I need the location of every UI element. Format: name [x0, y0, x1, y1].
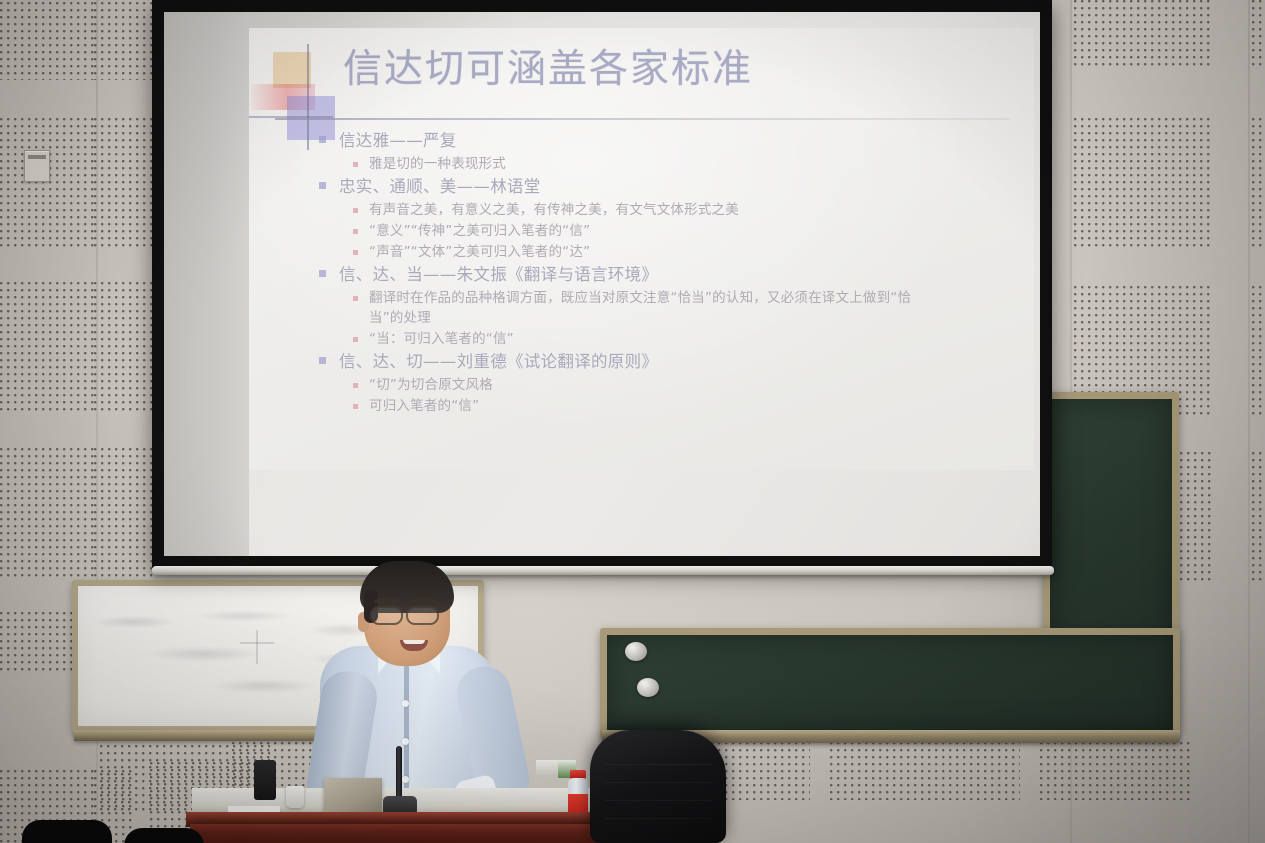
chair-ridge: [604, 782, 713, 783]
wall-perforation-block: [1252, 0, 1265, 66]
presenter-eyebrow: [410, 599, 436, 603]
bullet-text-highlight-wrap: 信、达、切——刘重德《试论翻译的原则》: [339, 350, 658, 374]
bullet-square-icon: [319, 136, 326, 143]
presentation-slide: 信达切可涵盖各家标准 信达雅——严复 雅是切的一种表现形式: [249, 28, 1034, 470]
bullet-text: 雅是切的一种表现形式: [369, 154, 506, 174]
lecture-podium: [190, 824, 612, 843]
presenter-shirt-button: [402, 700, 409, 707]
chair-ridge: [604, 764, 713, 765]
bullet-text: 翻译时在作品的品种格调方面，既应当对原文注意“恰当”的认知，又必须在译文上做到“…: [369, 288, 914, 328]
switch-slot: [28, 155, 45, 159]
bullet-text: 信达雅——严复: [339, 129, 457, 153]
wall-perforation-block: [94, 118, 152, 248]
bullet-text: “切”为切合原文风格: [369, 375, 493, 395]
wall-perforation-block: [1074, 0, 1212, 66]
bullet-square-icon: [319, 182, 326, 189]
slide-bullet-level1: 信达雅——严复: [319, 129, 1018, 153]
presenter-eyebrow: [374, 599, 400, 603]
foreground-head-silhouette: [124, 828, 204, 843]
bullet-square-icon: [353, 337, 358, 342]
board-magnet[interactable]: [625, 642, 647, 661]
board-magnet[interactable]: [637, 678, 659, 697]
bullet-text: 忠实、通顺、美——林语堂: [339, 175, 541, 199]
wall-switch-plate[interactable]: [24, 150, 50, 182]
dark-equipment[interactable]: [254, 760, 276, 800]
slide-bullet-level2: 雅是切的一种表现形式: [353, 154, 1018, 174]
presenter-glasses-lens: [370, 606, 403, 625]
bullet-square-icon: [319, 270, 326, 277]
wall-perforation-block: [94, 0, 152, 80]
slide-bullet-level2: “当：可归入笔者的“信”: [353, 329, 1018, 349]
slide-body: 信达雅——严复 雅是切的一种表现形式 忠实、通顺、美——林语堂: [319, 128, 1018, 416]
bullet-text: 信、达、当——朱文振《翻译与语言环境》: [339, 263, 658, 287]
bullet-text: “意义”“传神”之美可归入笔者的“信”: [369, 221, 590, 241]
wall-perforation-block: [1252, 286, 1265, 418]
decoration-tan-square: [273, 52, 311, 88]
slide-bullet-level2: “意义”“传神”之美可归入笔者的“信”: [353, 221, 1018, 241]
whiteboard-marker-trace: [240, 642, 274, 644]
presenter-shirt-button: [402, 776, 409, 783]
bullet-square-icon: [353, 162, 358, 167]
slide-bullet-level2: “声音”“文体”之美可归入笔者的“达”: [353, 242, 1018, 262]
slide-title: 信达切可涵盖各家标准: [343, 48, 1014, 93]
whiteboard-marker-trace: [256, 630, 258, 664]
slide-bullet-level1: 信、达、当——朱文振《翻译与语言环境》: [319, 263, 1018, 287]
wall-perforation-block: [0, 448, 96, 578]
wall-perforation-block: [0, 118, 96, 248]
bullet-text-gray: ——刘重德《试论翻译的原则》: [423, 352, 658, 371]
bullet-square-icon: [353, 296, 358, 301]
slide-bullet-level2: 翻译时在作品的品种格调方面，既应当对原文注意“恰当”的认知，又必须在译文上做到“…: [353, 288, 1018, 328]
cardboard-box[interactable]: [324, 778, 382, 812]
presenter-glasses-lens: [406, 606, 439, 625]
chair-ridge: [604, 818, 713, 819]
projection-screen-frame: 信达切可涵盖各家标准 信达雅——严复 雅是切的一种表现形式: [152, 0, 1052, 568]
wall-perforation-block: [830, 742, 1020, 800]
lecture-hall-scene: 信达切可涵盖各家标准 信达雅——严复 雅是切的一种表现形式: [0, 0, 1265, 843]
foreground-head-silhouette: [22, 820, 112, 843]
wall-perforation-block: [1180, 452, 1212, 582]
bullet-text-red: 信、达、切: [339, 352, 423, 371]
presenter-hair: [360, 561, 454, 613]
decoration-vertical-line: [307, 44, 309, 150]
chair-ridge: [604, 800, 713, 801]
slide-bullet-level2: “切”为切合原文风格: [353, 375, 1018, 395]
bullet-square-icon: [353, 383, 358, 388]
bullet-square-icon: [353, 404, 358, 409]
slide-bullet-level2: 有声音之美，有意义之美，有传神之美，有文气文体形式之美: [353, 200, 1018, 220]
slide-bullet-level1-highlighted: 信、达、切——刘重德《试论翻译的原则》: [319, 350, 1018, 374]
wall-panel-seam: [1248, 0, 1250, 843]
wall-perforation-block: [0, 282, 96, 414]
green-chalkboard-lower: [600, 628, 1180, 738]
wall-perforation-block: [1252, 118, 1265, 250]
bullet-square-icon: [353, 208, 358, 213]
slide-title-rule: [275, 118, 1010, 120]
screen-unlit-margin: [164, 12, 249, 556]
bullet-square-icon: [353, 229, 358, 234]
wall-perforation-block: [94, 282, 152, 414]
presenter-shirt-button: [402, 738, 409, 745]
projection-screen-weight-bar[interactable]: [152, 566, 1054, 575]
bullet-text: “声音”“文体”之美可归入笔者的“达”: [369, 242, 590, 262]
wall-perforation-block: [1074, 118, 1212, 250]
wall-perforation-block: [94, 448, 152, 578]
wall-perforation-block: [1252, 452, 1265, 582]
wall-perforation-block: [0, 0, 96, 80]
office-chair[interactable]: [590, 730, 726, 843]
bullet-square-icon: [319, 357, 326, 364]
slide-title-decoration: [263, 50, 335, 140]
paper-cup[interactable]: [286, 786, 304, 808]
slide-bullet-level2: 可归入笔者的“信”: [353, 396, 1018, 416]
slide-bullet-level1: 忠实、通顺、美——林语堂: [319, 175, 1018, 199]
tissue-box[interactable]: [536, 760, 558, 776]
bullet-square-icon: [353, 250, 358, 255]
bullet-text: “当：可归入笔者的“信”: [369, 329, 514, 349]
wall-perforation-block: [1040, 742, 1190, 800]
bullet-text: 有声音之美，有意义之美，有传神之美，有文气文体形式之美: [369, 200, 739, 220]
bullet-text: 可归入笔者的“信”: [369, 396, 479, 416]
projection-screen-surface[interactable]: 信达切可涵盖各家标准 信达雅——严复 雅是切的一种表现形式: [164, 12, 1040, 556]
